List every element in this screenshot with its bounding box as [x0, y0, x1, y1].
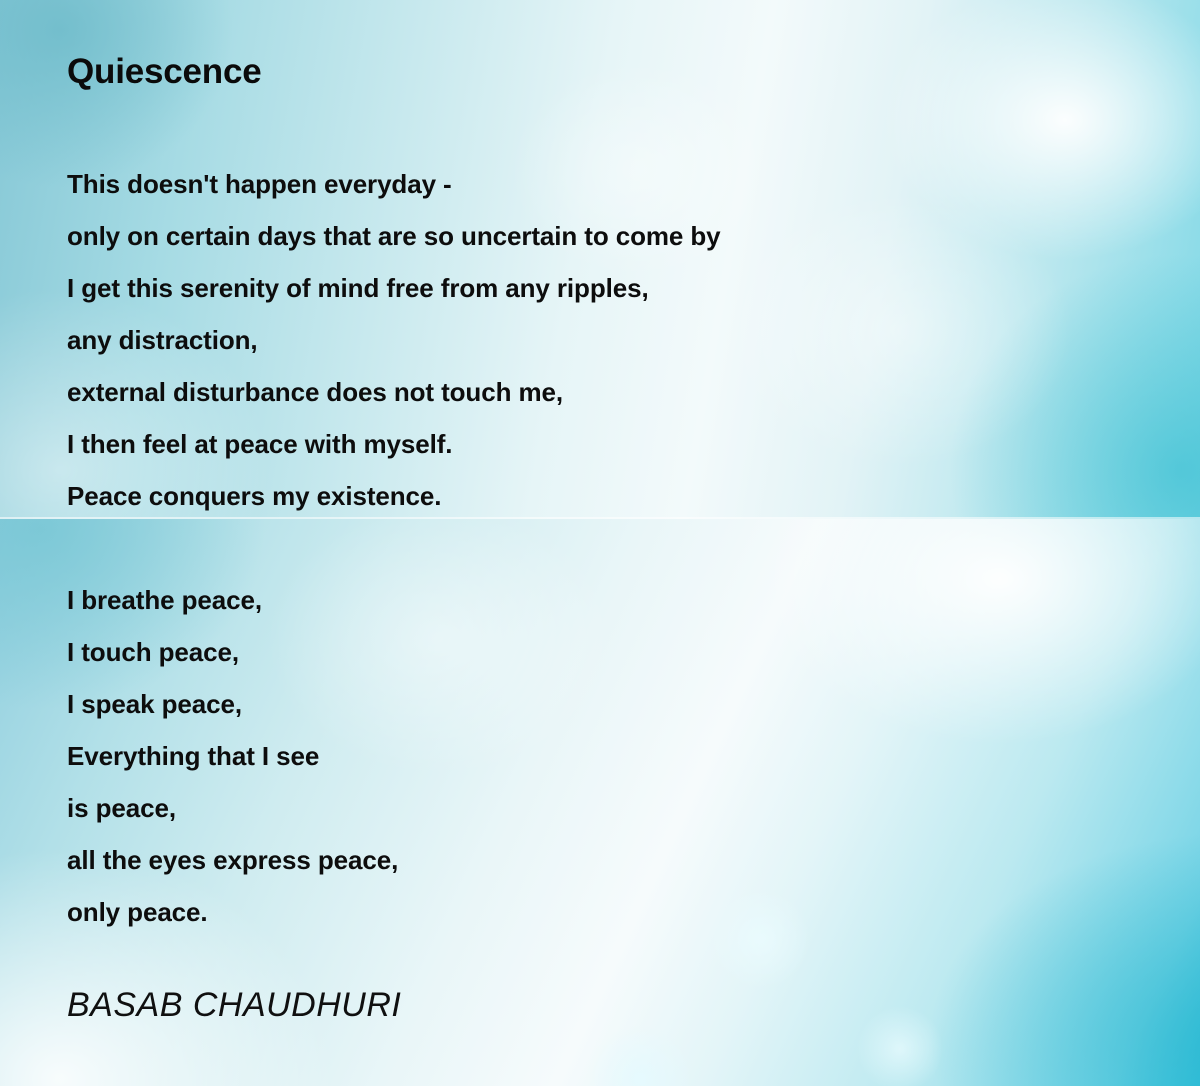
poem-line: only on certain days that are so uncerta…	[67, 210, 721, 262]
poem-line: I speak peace,	[67, 678, 398, 730]
poem-line: I get this serenity of mind free from an…	[67, 262, 721, 314]
poem-line: all the eyes express peace,	[67, 834, 398, 886]
poem-line: only peace.	[67, 886, 398, 938]
poem-line: is peace,	[67, 782, 398, 834]
author-byline: BASAB CHAUDHURI	[67, 986, 401, 1025]
stanza-two: I breathe peace, I touch peace, I speak …	[67, 574, 398, 938]
poem-image-card: Quiescence This doesn't happen everyday …	[0, 0, 1200, 1086]
poem-line: Everything that I see	[67, 730, 398, 782]
stanza-one: This doesn't happen everyday - only on c…	[67, 158, 721, 522]
poem-line: external disturbance does not touch me,	[67, 366, 721, 418]
poem-line: This doesn't happen everyday -	[67, 158, 721, 210]
poem-line: any distraction,	[67, 314, 721, 366]
poem-text-layer: Quiescence This doesn't happen everyday …	[0, 0, 1200, 1086]
page-title: Quiescence	[67, 52, 262, 92]
poem-line: Peace conquers my existence.	[67, 470, 721, 522]
poem-line: I touch peace,	[67, 626, 398, 678]
poem-line: I then feel at peace with myself.	[67, 418, 721, 470]
poem-line: I breathe peace,	[67, 574, 398, 626]
